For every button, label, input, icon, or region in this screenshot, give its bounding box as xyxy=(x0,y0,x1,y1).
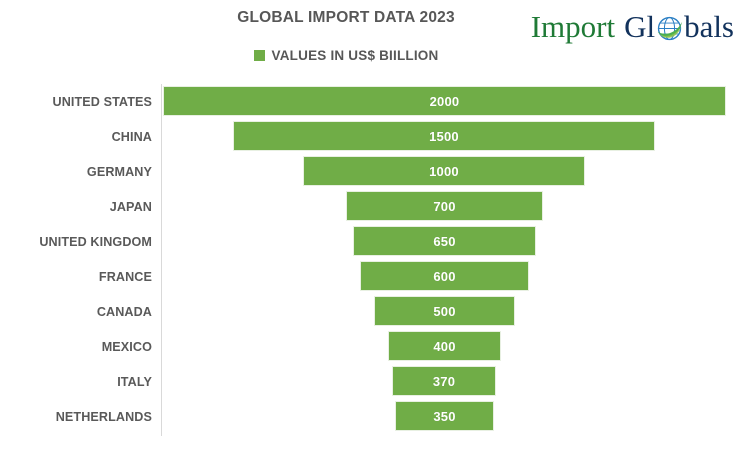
bar-track: 1500 xyxy=(162,119,750,154)
bar-track: 1000 xyxy=(162,154,750,189)
category-label: MEXICO xyxy=(0,340,152,354)
category-label: NETHERLANDS xyxy=(0,410,152,424)
bar-value-label: 400 xyxy=(433,339,455,354)
bar-row: CHINA1500 xyxy=(0,119,750,154)
bar-segment[interactable]: 700 xyxy=(346,191,543,221)
bar-value-label: 350 xyxy=(433,409,455,424)
bar-segment[interactable]: 1000 xyxy=(303,156,585,186)
bar-row: NETHERLANDS350 xyxy=(0,399,750,434)
bar-track: 350 xyxy=(162,399,750,434)
bar-segment[interactable]: 1500 xyxy=(233,121,655,151)
bar-segment[interactable]: 370 xyxy=(392,366,496,396)
bar-row: ITALY370 xyxy=(0,364,750,399)
bar-track: 500 xyxy=(162,294,750,329)
bar-track: 700 xyxy=(162,189,750,224)
funnel-chart: GLOBAL IMPORT DATA 2023 VALUES IN US$ BI… xyxy=(0,0,750,450)
bar-track: 400 xyxy=(162,329,750,364)
bar-value-label: 700 xyxy=(433,199,455,214)
bar-value-label: 370 xyxy=(433,374,455,389)
category-label: ITALY xyxy=(0,375,152,389)
bar-row: UNITED KINGDOM650 xyxy=(0,224,750,259)
bar-row: JAPAN700 xyxy=(0,189,750,224)
plot-area: UNITED STATES2000CHINA1500GERMANY1000JAP… xyxy=(0,0,750,450)
bar-row: CANADA500 xyxy=(0,294,750,329)
bar-row: MEXICO400 xyxy=(0,329,750,364)
category-label: GERMANY xyxy=(0,165,152,179)
bar-segment[interactable]: 2000 xyxy=(163,86,726,116)
bar-rows: UNITED STATES2000CHINA1500GERMANY1000JAP… xyxy=(0,84,750,434)
bar-segment[interactable]: 500 xyxy=(374,296,515,326)
bar-track: 370 xyxy=(162,364,750,399)
bar-row: FRANCE600 xyxy=(0,259,750,294)
bar-row: GERMANY1000 xyxy=(0,154,750,189)
category-label: JAPAN xyxy=(0,200,152,214)
bar-track: 2000 xyxy=(162,84,750,119)
bar-value-label: 2000 xyxy=(430,94,460,109)
bar-segment[interactable]: 650 xyxy=(353,226,536,256)
bar-value-label: 600 xyxy=(433,269,455,284)
bar-segment[interactable]: 350 xyxy=(395,401,494,431)
category-label: FRANCE xyxy=(0,270,152,284)
bar-row: UNITED STATES2000 xyxy=(0,84,750,119)
category-label: CANADA xyxy=(0,305,152,319)
category-label: UNITED STATES xyxy=(0,95,152,109)
bar-track: 650 xyxy=(162,224,750,259)
bar-segment[interactable]: 400 xyxy=(388,331,501,361)
bar-value-label: 1500 xyxy=(429,129,459,144)
category-label: UNITED KINGDOM xyxy=(0,235,152,249)
bar-value-label: 500 xyxy=(433,304,455,319)
bar-value-label: 650 xyxy=(433,234,455,249)
bar-track: 600 xyxy=(162,259,750,294)
bar-value-label: 1000 xyxy=(429,164,459,179)
category-label: CHINA xyxy=(0,130,152,144)
bar-segment[interactable]: 600 xyxy=(360,261,529,291)
